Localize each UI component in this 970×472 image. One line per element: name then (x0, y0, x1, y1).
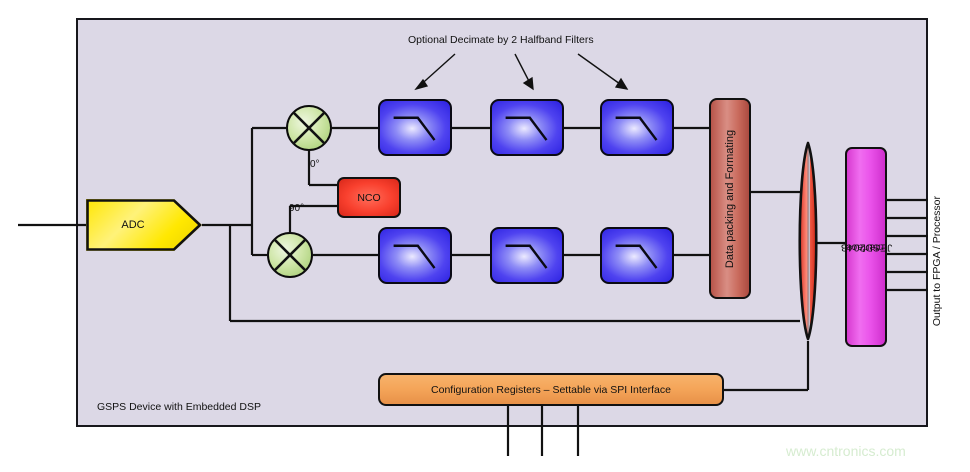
nco-block[interactable]: NCO (337, 177, 401, 218)
mux-lens-shape (795, 141, 821, 341)
halfband-annotation: Optional Decimate by 2 Halfband Filters (408, 34, 594, 46)
configuration-registers-label: Configuration Registers – Settable via S… (431, 384, 671, 396)
halfband-filter-i-1[interactable] (378, 99, 452, 156)
device-frame-label: GSPS Device with Embedded DSP (97, 401, 261, 413)
mixer-q[interactable] (267, 232, 313, 278)
halfband-filter-i-3[interactable] (600, 99, 674, 156)
phase-90-label: 90° (289, 203, 304, 214)
watermark: www.cntronics.com (786, 443, 906, 459)
halfband-filter-q-3[interactable] (600, 227, 674, 284)
data-packing-block[interactable]: Data packing and Formating (709, 98, 751, 299)
lowpass-response-icon (380, 101, 450, 154)
halfband-filter-i-2[interactable] (490, 99, 564, 156)
halfband-filter-q-2[interactable] (490, 227, 564, 284)
halfband-filter-q-1[interactable] (378, 227, 452, 284)
mixer-i[interactable] (286, 105, 332, 151)
diagram-canvas: ADC NCO 0° 90° (0, 0, 970, 472)
mixer-q-cross (267, 232, 313, 278)
output-destination-label: Output to FPGA / Processor (931, 196, 943, 326)
adc-block[interactable]: ADC (86, 199, 202, 251)
jesd204b-interface-block[interactable]: JESD204BInterface (845, 147, 887, 347)
configuration-registers-block[interactable]: Configuration Registers – Settable via S… (378, 373, 724, 406)
jesd-label-line2: Interface (846, 241, 887, 254)
output-multiplexer[interactable] (795, 141, 821, 341)
lowpass-response-icon (492, 101, 562, 154)
lowpass-response-icon (602, 229, 672, 282)
lowpass-response-icon (380, 229, 450, 282)
data-packing-label: Data packing and Formating (724, 129, 736, 267)
nco-label: NCO (357, 192, 380, 204)
phase-0-label: 0° (310, 159, 320, 170)
mixer-i-cross (286, 105, 332, 151)
lowpass-response-icon (492, 229, 562, 282)
lowpass-response-icon (602, 101, 672, 154)
adc-label: ADC (86, 199, 180, 251)
